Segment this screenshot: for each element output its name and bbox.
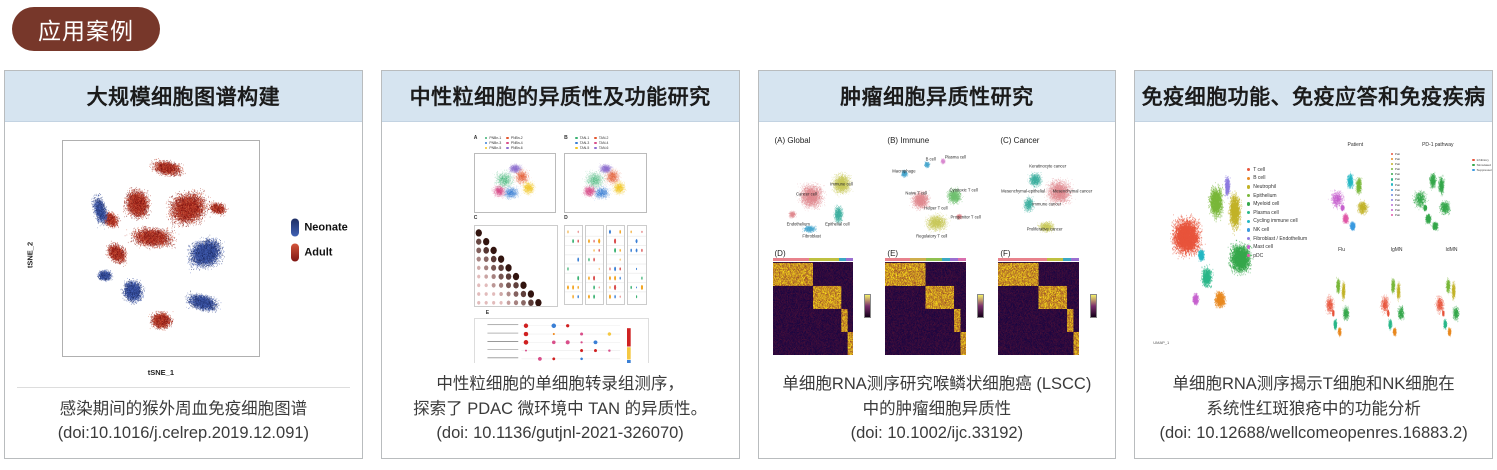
panel-d: D bbox=[564, 220, 646, 307]
legend-dot-icon bbox=[506, 147, 509, 150]
key-label: Suppressor bbox=[1477, 168, 1492, 172]
umap-legend-label: Fibroblast / Endothelium bbox=[1253, 236, 1307, 242]
cell-label: Endothelium bbox=[787, 221, 810, 226]
panel-immune: (B) Immune Macrophage B cell Plasma cell… bbox=[885, 136, 988, 243]
small-umap bbox=[1400, 151, 1476, 243]
cell-label: Helper T cell bbox=[924, 206, 947, 211]
panel-a: A PNBn-1PNBn-2PNBn-3PNBn-4PNBn-5PNBn-6 bbox=[474, 136, 556, 213]
small-multiple-title: Patient bbox=[1348, 142, 1364, 148]
panel-legend-label: PNBn-3 bbox=[489, 141, 501, 145]
cell-label: Plasma cell bbox=[945, 155, 966, 160]
cell-label: Fibroblast bbox=[802, 233, 820, 238]
case-card-4-title: 免疫细胞功能、免疫应答和免疫疾病 bbox=[1135, 71, 1492, 122]
pathway-dotplot bbox=[474, 318, 649, 363]
tsne-y-axis-label: tSNE_2 bbox=[26, 242, 35, 268]
case-card-4-caption: 单细胞RNA测序揭示T细胞和NK细胞在 系统性红斑狼疮中的功能分析 (doi: … bbox=[1135, 363, 1492, 458]
global-tsne: Cancer cell Immune cell Endothelium Epit… bbox=[773, 149, 876, 243]
cell-label: Epithelial cell bbox=[825, 221, 849, 226]
cell-label: Mesenchymal-epithelial bbox=[1001, 189, 1045, 194]
tsne-x-axis-label: tSNE_1 bbox=[62, 368, 260, 377]
legend-dot-icon bbox=[575, 137, 578, 140]
panel-d-tag: D bbox=[564, 215, 568, 221]
legend-dot-icon bbox=[1472, 159, 1474, 161]
legend-dot-icon bbox=[594, 147, 597, 150]
panel-e3: (E) bbox=[885, 249, 988, 356]
panel-f3: (F) bbox=[998, 249, 1101, 356]
panel-b-legend: TAN-1TAN-2TAN-3TAN-4TAN-5TAN-6 bbox=[575, 136, 608, 150]
legend-dot-icon bbox=[1391, 178, 1393, 180]
panel-a-tag: A bbox=[474, 135, 478, 141]
panel-a-legend: PNBn-1PNBn-2PNBn-3PNBn-4PNBn-5PNBn-6 bbox=[485, 136, 523, 150]
case-card-3[interactable]: 肿瘤细胞异质性研究 (A) Global Cancer cell Immune … bbox=[758, 70, 1117, 459]
legend-dot-icon bbox=[485, 137, 488, 140]
panel-legend-item: TAN-5 bbox=[575, 146, 589, 150]
section-badge: 应用案例 bbox=[12, 7, 160, 51]
cell-label: Mesenchymal cancer bbox=[1053, 189, 1093, 194]
cell-label: Keratinocyte cancer bbox=[1029, 163, 1066, 168]
legend-swatch-adult bbox=[291, 243, 299, 261]
legend-dot-icon bbox=[485, 147, 488, 150]
case-study-card-list: 大规模细胞图谱构建 tSNE_2 20 0 -20 -20 0 20 tSNE_… bbox=[4, 70, 1493, 459]
umap-legend-label: Plasma cell bbox=[1253, 210, 1279, 216]
case-card-1-caption: 感染期间的猴外周血免疫细胞图谱 (doi:10.1016/j.celrep.20… bbox=[5, 388, 362, 459]
panel-e3-tag: (E) bbox=[887, 249, 898, 258]
panel-legend-item: PNBn-4 bbox=[506, 141, 522, 145]
umap-legend-label: T cell bbox=[1253, 167, 1265, 173]
key-item: Inhibitory bbox=[1472, 158, 1492, 162]
heatmap-column-bar bbox=[885, 258, 966, 261]
panel-legend-label: TAN-5 bbox=[580, 146, 590, 150]
panel-legend-item: PNBn-5 bbox=[485, 146, 501, 150]
panel-legend-label: TAN-3 bbox=[580, 141, 590, 145]
cell-label: Macrophage bbox=[892, 168, 915, 173]
panel-legend-label: TAN-1 bbox=[580, 136, 590, 140]
legend-dot-icon bbox=[594, 142, 597, 145]
key-item: Suppressor bbox=[1472, 168, 1492, 172]
umap-legend-label: Neutrophil bbox=[1253, 184, 1276, 190]
panel-legend-label: PNBn-2 bbox=[511, 136, 523, 140]
panel-c-tag: C bbox=[474, 215, 478, 221]
legend-dot-icon bbox=[575, 142, 578, 145]
panel-legend-label: PNBn-4 bbox=[511, 141, 523, 145]
legend-dot-icon bbox=[1247, 228, 1250, 231]
umap-main: T cellB cellNeutrophilEpitheliumMyeloid … bbox=[1151, 142, 1307, 349]
dotplot-cell bbox=[585, 225, 604, 305]
legend-dot-icon bbox=[1391, 194, 1393, 196]
legend-dot-icon bbox=[1247, 168, 1250, 171]
legend-dot-icon bbox=[1472, 164, 1474, 166]
small-multiple-title: PD-1 pathway bbox=[1422, 142, 1453, 148]
umap-celltype-legend: T cellB cellNeutrophilEpitheliumMyeloid … bbox=[1247, 167, 1307, 259]
legend-dot-icon bbox=[1247, 254, 1250, 257]
legend-dot-icon bbox=[1247, 245, 1250, 248]
small-multiple-title: IdMN bbox=[1446, 247, 1458, 253]
small-multiple-row-2: Flu IgMN IdMN bbox=[1317, 247, 1476, 348]
case-card-2-title: 中性粒细胞的异质性及功能研究 bbox=[382, 71, 739, 122]
tsne-legend-label-neonate: Neonate bbox=[304, 221, 347, 233]
umap-legend-label: NK cell bbox=[1253, 227, 1269, 233]
scatter-row: (A) Global Cancer cell Immune cell Endot… bbox=[773, 136, 1102, 243]
case-card-3-figure: (A) Global Cancer cell Immune cell Endot… bbox=[759, 122, 1116, 363]
umap-legend-item: T cell bbox=[1247, 167, 1307, 173]
legend-dot-icon bbox=[1391, 214, 1393, 216]
cell-label: Progenitor T cell bbox=[951, 214, 981, 219]
heatmap-immune bbox=[885, 262, 966, 354]
legend-dot-icon bbox=[506, 142, 509, 145]
umap-small-multiples: Patient Patient1Patient2Patient3Patient4… bbox=[1317, 142, 1476, 349]
legend-dot-icon bbox=[1391, 204, 1393, 206]
umap-legend-item: B cell bbox=[1247, 175, 1307, 181]
cell-label: Cancer cell bbox=[796, 192, 817, 197]
panel-legend-label: PNBn-6 bbox=[511, 146, 523, 150]
small-multiple-patient: Patient Patient1Patient2Patient3Patient4… bbox=[1317, 142, 1393, 243]
panel-e-tag: E bbox=[486, 310, 489, 316]
case-card-2-caption: 中性粒细胞的单细胞转录组测序， 探索了 PDAC 微环境中 TAN 的异质性。 … bbox=[382, 363, 739, 458]
legend-dot-icon bbox=[575, 147, 578, 150]
umap-legend-item: Fibroblast / Endothelium bbox=[1247, 236, 1307, 242]
umap-legend-item: Myeloid cell bbox=[1247, 201, 1307, 207]
umap-legend-label: Myeloid cell bbox=[1253, 201, 1279, 207]
legend-dot-icon bbox=[1391, 173, 1393, 175]
small-multiple-flu: Flu bbox=[1317, 247, 1366, 348]
legend-dot-icon bbox=[1247, 202, 1250, 205]
case-card-2[interactable]: 中性粒细胞的异质性及功能研究 A PNBn-1PNBn-2PNBn-3PNBn-… bbox=[381, 70, 740, 459]
cell-label: Proliferative cancer bbox=[1027, 227, 1063, 232]
legend-swatch-neonate bbox=[291, 218, 299, 236]
case-card-3-caption: 单细胞RNA测序研究喉鳞状细胞癌 (LSCC) 中的肿瘤细胞异质性 (doi: … bbox=[759, 363, 1116, 458]
panel-legend-item: TAN-6 bbox=[594, 146, 608, 150]
key-label: Inhibitory bbox=[1477, 158, 1489, 162]
panel-f3-tag: (F) bbox=[1000, 249, 1010, 258]
umap-legend-label: Mast cell bbox=[1253, 244, 1273, 250]
panel-legend-item: TAN-2 bbox=[594, 136, 608, 140]
panel-global-tag: (A) Global bbox=[775, 136, 811, 145]
panel-b-tag: B bbox=[564, 135, 568, 141]
umap-legend-item: Cycling immune cell bbox=[1247, 218, 1307, 224]
legend-dot-icon bbox=[1247, 194, 1250, 197]
panel-cancer: (C) Cancer Keratinocyte cancer Mesenchym… bbox=[998, 136, 1101, 243]
small-multiple-row-1: Patient Patient1Patient2Patient3Patient4… bbox=[1317, 142, 1476, 243]
umap-legend-item: Plasma cell bbox=[1247, 210, 1307, 216]
small-multiple-title: IgMN bbox=[1391, 247, 1403, 253]
tsne-scatter-plot: 20 0 -20 -20 0 20 bbox=[62, 140, 260, 357]
heatmap-colorbar bbox=[1090, 294, 1097, 318]
case-card-1-figure: tSNE_2 20 0 -20 -20 0 20 tSNE_1 bbox=[5, 122, 362, 387]
umap-legend-label: Epithelium bbox=[1253, 193, 1276, 199]
heatmap-colorbar bbox=[864, 294, 871, 318]
umap-legend-item: NK cell bbox=[1247, 227, 1307, 233]
heatmap-column-bar bbox=[998, 258, 1079, 261]
legend-dot-icon bbox=[1391, 199, 1393, 201]
legend-dot-icon bbox=[594, 137, 597, 140]
panel-row-ab: A PNBn-1PNBn-2PNBn-3PNBn-4PNBn-5PNBn-6 B… bbox=[474, 136, 647, 213]
panel-immune-tag: (B) Immune bbox=[887, 136, 929, 145]
legend-dot-icon bbox=[1391, 158, 1393, 160]
panel-e: E bbox=[474, 314, 647, 363]
panel-legend-item: PNBn-2 bbox=[506, 136, 522, 140]
dotplot-cell bbox=[606, 225, 625, 305]
immune-tsne: Macrophage B cell Plasma cell Naive T ce… bbox=[885, 149, 988, 243]
legend-dot-icon bbox=[1247, 211, 1250, 214]
umap-legend-label: B cell bbox=[1253, 175, 1265, 181]
umap-legend-label: pDC bbox=[1253, 253, 1263, 259]
panel-a-umap bbox=[474, 153, 556, 213]
panel-cancer-tag: (C) Cancer bbox=[1000, 136, 1039, 145]
panel-c: C bbox=[474, 220, 556, 307]
panel-legend-label: PNBn-5 bbox=[489, 146, 501, 150]
panel-b: B TAN-1TAN-2TAN-3TAN-4TAN-5TAN-6 bbox=[564, 136, 646, 213]
small-multiple-idmn: IdMN bbox=[1427, 247, 1476, 348]
small-multiple-pathway: PD-1 pathway InhibitoryStimulatedSuppres… bbox=[1400, 142, 1476, 243]
legend-dot-icon bbox=[1391, 163, 1393, 165]
heatmap-row: (D) (E) bbox=[773, 249, 1102, 356]
legend-dot-icon bbox=[1247, 185, 1250, 188]
umap-legend-label: Cycling immune cell bbox=[1253, 218, 1297, 224]
cell-label: Regulatory T cell bbox=[916, 233, 947, 238]
panel-legend-label: TAN-2 bbox=[599, 136, 609, 140]
key-label: Stimulated bbox=[1477, 163, 1491, 167]
dotplot-grid bbox=[564, 225, 646, 305]
heatmap-cancer bbox=[998, 262, 1079, 354]
panel-legend-item: TAN-4 bbox=[594, 141, 608, 145]
panel-global: (A) Global Cancer cell Immune cell Endot… bbox=[773, 136, 876, 243]
legend-dot-icon bbox=[506, 137, 509, 140]
legend-dot-icon bbox=[1247, 220, 1250, 223]
cell-label: Immune cell bbox=[830, 181, 853, 186]
legend-dot-icon bbox=[1391, 183, 1393, 185]
small-umap bbox=[1317, 256, 1366, 348]
dotplot-cell bbox=[627, 225, 646, 305]
tsne-legend-item-neonate: Neonate bbox=[291, 218, 347, 236]
case-card-2-figure: A PNBn-1PNBn-2PNBn-3PNBn-4PNBn-5PNBn-6 B… bbox=[382, 122, 739, 363]
heatmap-global bbox=[773, 262, 854, 354]
panel-legend-item: PNBn-3 bbox=[485, 141, 501, 145]
legend-dot-icon bbox=[1391, 189, 1393, 191]
umap-legend-item: Epithelium bbox=[1247, 193, 1307, 199]
pathway-key-list: InhibitoryStimulatedSuppressor bbox=[1472, 158, 1492, 172]
heatmap-colorbar bbox=[977, 294, 984, 318]
tsne-legend-label-adult: Adult bbox=[304, 246, 332, 258]
panel-legend-label: TAN-4 bbox=[599, 141, 609, 145]
cancer-tsne: Keratinocyte cancer Mesenchymal cancer M… bbox=[998, 149, 1101, 243]
cell-label: Naive T cell bbox=[905, 191, 927, 196]
small-multiple-title: Flu bbox=[1338, 247, 1345, 253]
correlation-matrix bbox=[474, 225, 558, 307]
cell-label: Cytotoxic T cell bbox=[950, 187, 978, 192]
case-card-3-title: 肿瘤细胞异质性研究 bbox=[759, 71, 1116, 122]
panel-row-cd: C D bbox=[474, 220, 647, 307]
panel-legend-label: PNBn-1 bbox=[489, 136, 501, 140]
cell-label: B cell bbox=[926, 157, 936, 162]
key-item: Stimulated bbox=[1472, 163, 1492, 167]
legend-dot-icon bbox=[1391, 168, 1393, 170]
panel-d3-tag: (D) bbox=[775, 249, 786, 258]
panel-legend-item: PNBn-6 bbox=[506, 146, 522, 150]
legend-dot-icon bbox=[1247, 237, 1250, 240]
panel-d3: (D) bbox=[773, 249, 876, 356]
legend-dot-icon bbox=[1472, 169, 1474, 171]
panel-legend-label: TAN-6 bbox=[599, 146, 609, 150]
umap-legend-item: Mast cell bbox=[1247, 244, 1307, 250]
legend-dot-icon bbox=[1391, 209, 1393, 211]
cell-label: Immune cancer bbox=[1032, 201, 1061, 206]
legend-dot-icon bbox=[1391, 153, 1393, 155]
panel-legend-item: PNBn-1 bbox=[485, 136, 501, 140]
legend-dot-icon bbox=[485, 142, 488, 145]
case-card-4-figure: T cellB cellNeutrophilEpitheliumMyeloid … bbox=[1135, 122, 1492, 363]
section-badge-label: 应用案例 bbox=[38, 12, 134, 46]
umap-legend-item: pDC bbox=[1247, 253, 1307, 259]
dotplot-cell bbox=[564, 225, 583, 305]
small-multiple-igmn: IgMN bbox=[1372, 247, 1421, 348]
umap-axis-label: UMAP_1 bbox=[1153, 340, 1169, 345]
small-umap bbox=[1372, 256, 1421, 348]
tsne-legend-item-adult: Adult bbox=[291, 243, 347, 261]
small-umap bbox=[1317, 151, 1393, 243]
case-card-1-title: 大规模细胞图谱构建 bbox=[5, 71, 362, 122]
panel-legend-item: TAN-1 bbox=[575, 136, 589, 140]
heatmap-column-bar bbox=[773, 258, 854, 261]
small-umap bbox=[1427, 256, 1476, 348]
case-card-1[interactable]: 大规模细胞图谱构建 tSNE_2 20 0 -20 -20 0 20 tSNE_… bbox=[4, 70, 363, 459]
panel-b-umap bbox=[564, 153, 646, 213]
legend-dot-icon bbox=[1247, 177, 1250, 180]
tsne-legend: Neonate Adult bbox=[291, 218, 347, 261]
case-card-4[interactable]: 免疫细胞功能、免疫应答和免疫疾病 T cellB cellNeutrophilE… bbox=[1134, 70, 1493, 459]
panel-legend-item: TAN-3 bbox=[575, 141, 589, 145]
umap-legend-item: Neutrophil bbox=[1247, 184, 1307, 190]
